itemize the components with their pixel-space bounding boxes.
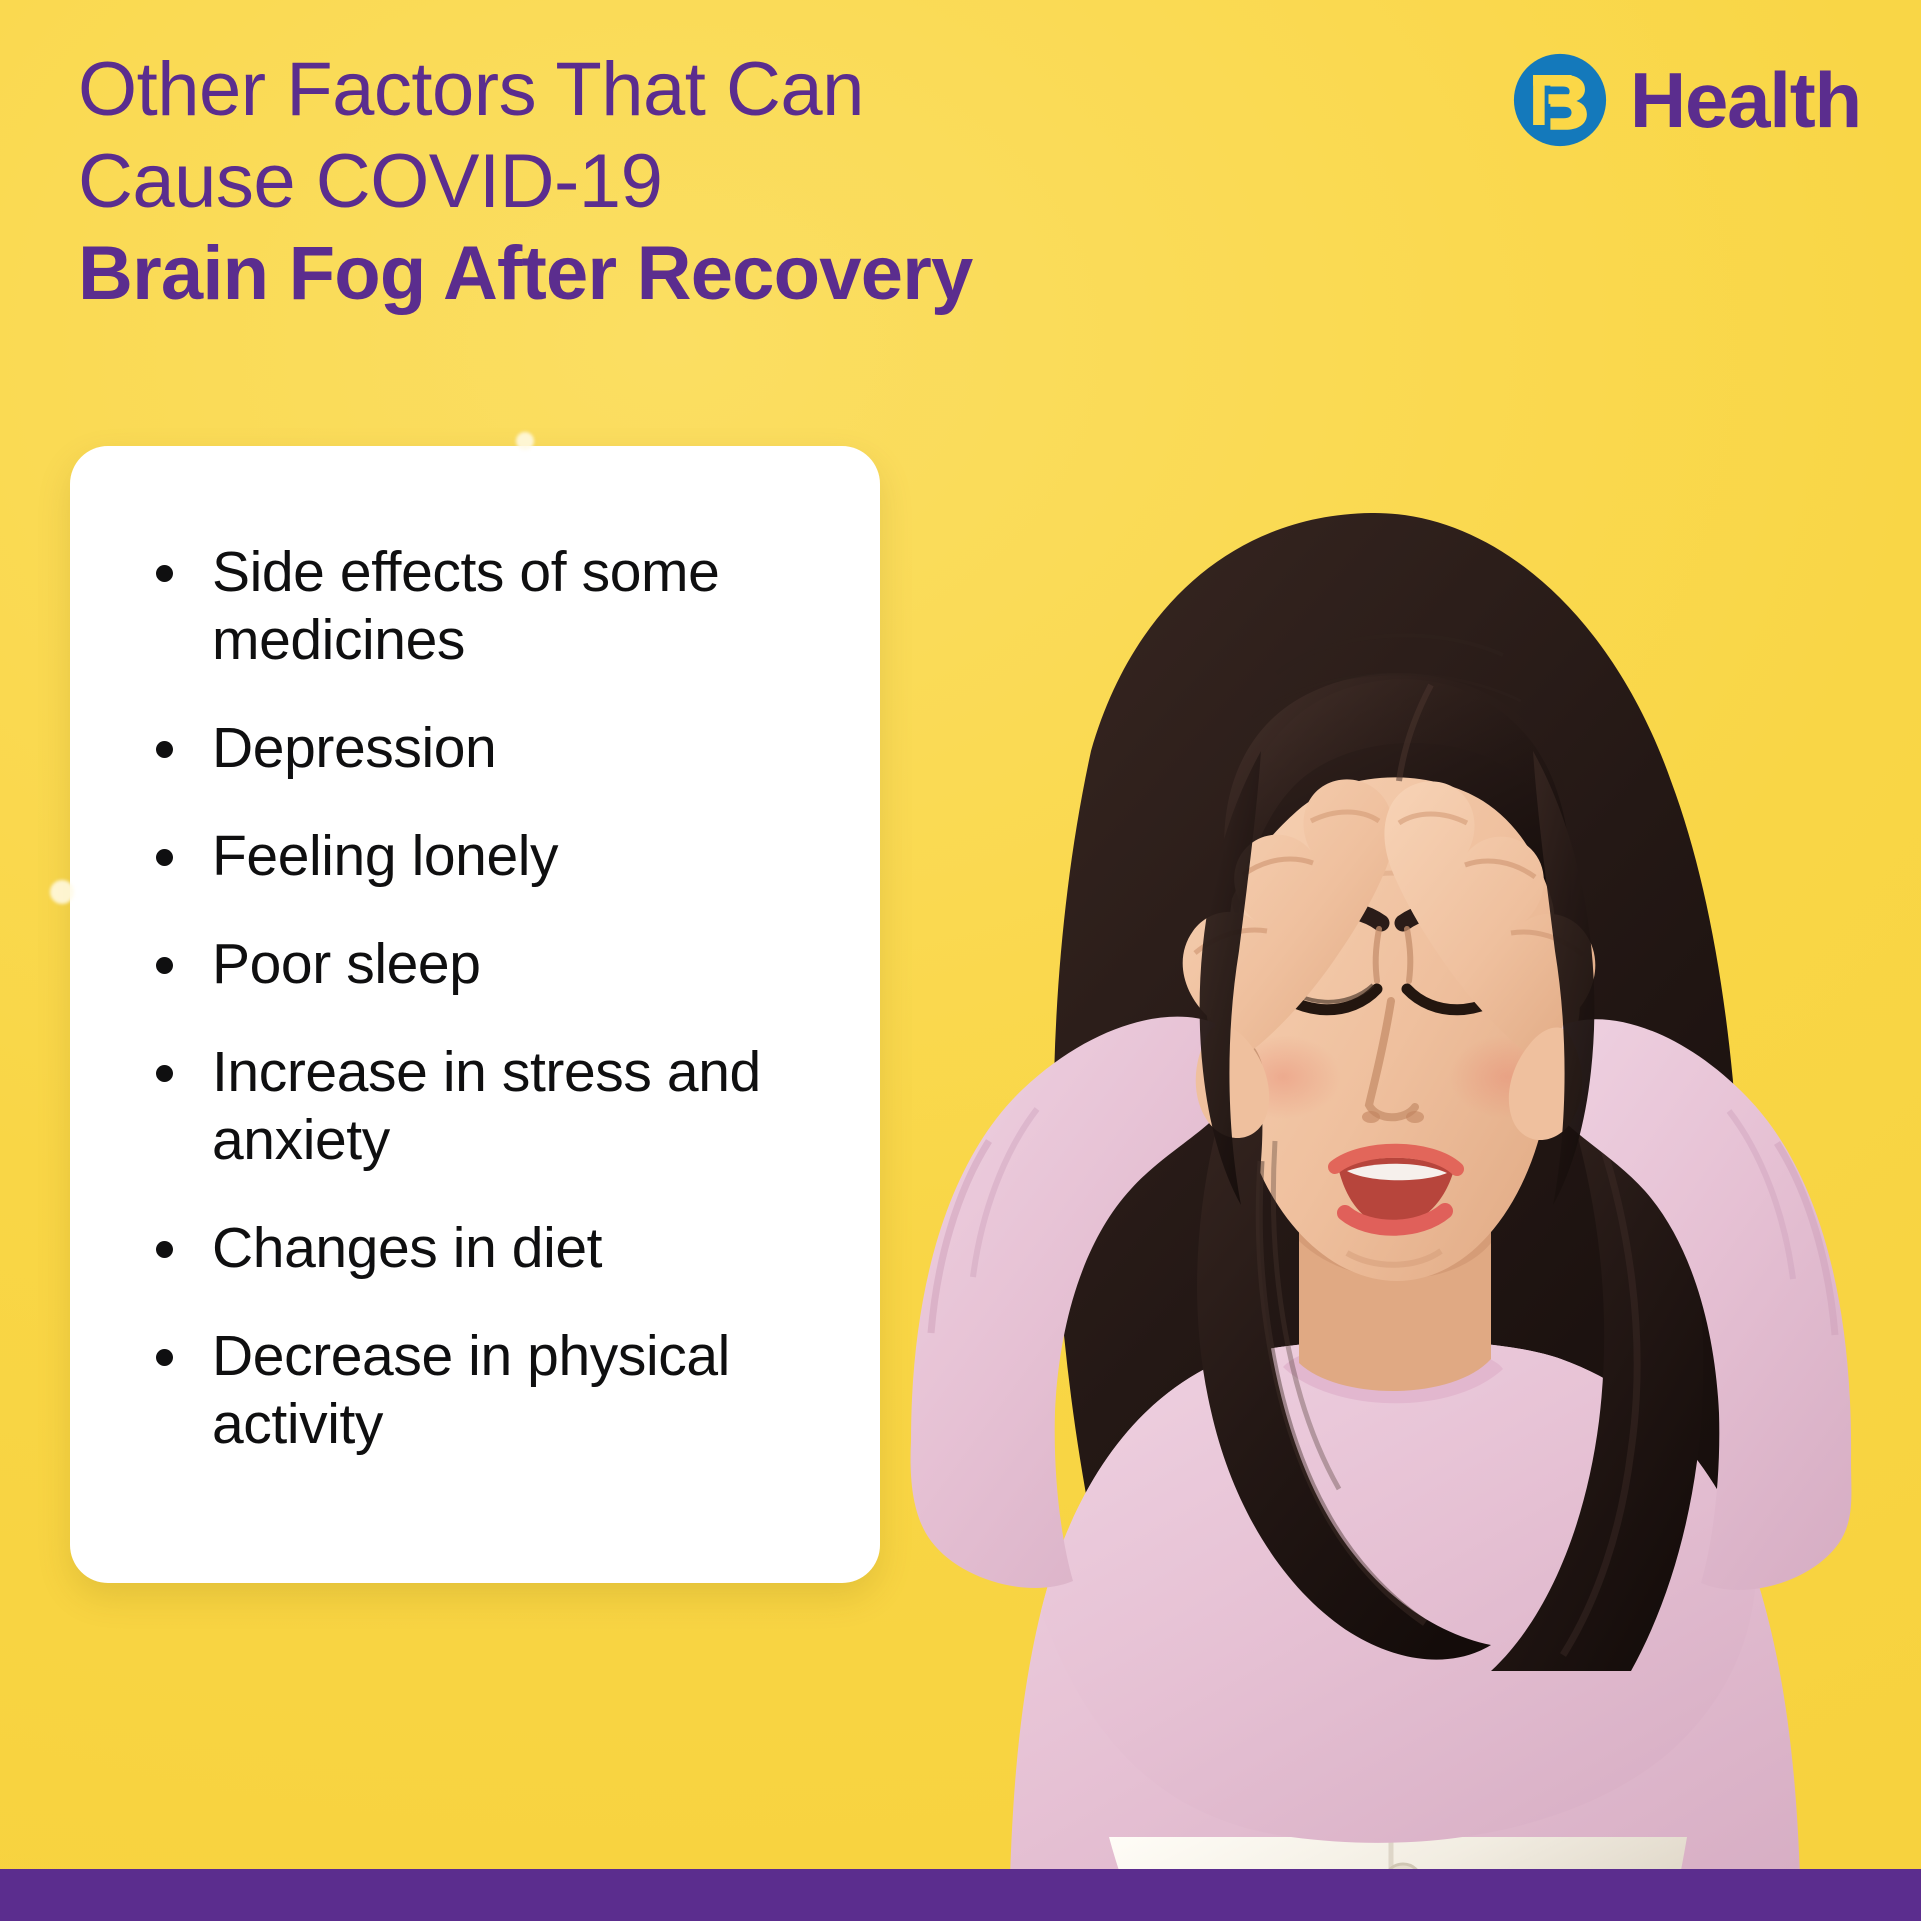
bajaj-finserv-monogram-icon [1512,52,1608,148]
bullet-dot-icon [156,1349,173,1366]
brand-lockup: Health [1512,52,1861,148]
list-item-label: Changes in diet [212,1216,602,1280]
page-title: Other Factors That Can Cause COVID-19 Br… [78,44,1198,320]
decorative-speck [516,432,534,450]
list-item-label: Increase in stress and anxiety [212,1040,761,1172]
bullet-dot-icon [156,741,173,758]
list-item-label: Decrease in physical activity [212,1324,730,1456]
factors-card: Side effects of some medicines Depressio… [70,446,880,1583]
factors-list: Side effects of some medicines Depressio… [156,538,836,1458]
bullet-dot-icon [156,565,173,582]
brand-name: Health [1630,61,1861,139]
list-item: Side effects of some medicines [156,538,836,674]
infographic-poster: Other Factors That Can Cause COVID-19 Br… [0,0,1921,1921]
title-line-3: Brain Fog After Recovery [78,228,1198,320]
list-item-label: Poor sleep [212,932,481,996]
list-item-label: Side effects of some medicines [212,540,719,672]
bullet-dot-icon [156,957,173,974]
list-item: Poor sleep [156,930,836,998]
title-line-1: Other Factors That Can [78,44,1198,136]
bullet-dot-icon [156,1241,173,1258]
bullet-dot-icon [156,849,173,866]
bullet-dot-icon [156,1065,173,1082]
decorative-speck [50,880,74,904]
list-item: Changes in diet [156,1214,836,1282]
list-item: Increase in stress and anxiety [156,1038,836,1174]
list-item: Depression [156,714,836,782]
list-item: Feeling lonely [156,822,836,890]
list-item: Decrease in physical activity [156,1322,836,1458]
footer-band [0,1869,1921,1921]
list-item-label: Depression [212,716,496,780]
title-line-2: Cause COVID-19 [78,136,1198,228]
list-item-label: Feeling lonely [212,824,558,888]
